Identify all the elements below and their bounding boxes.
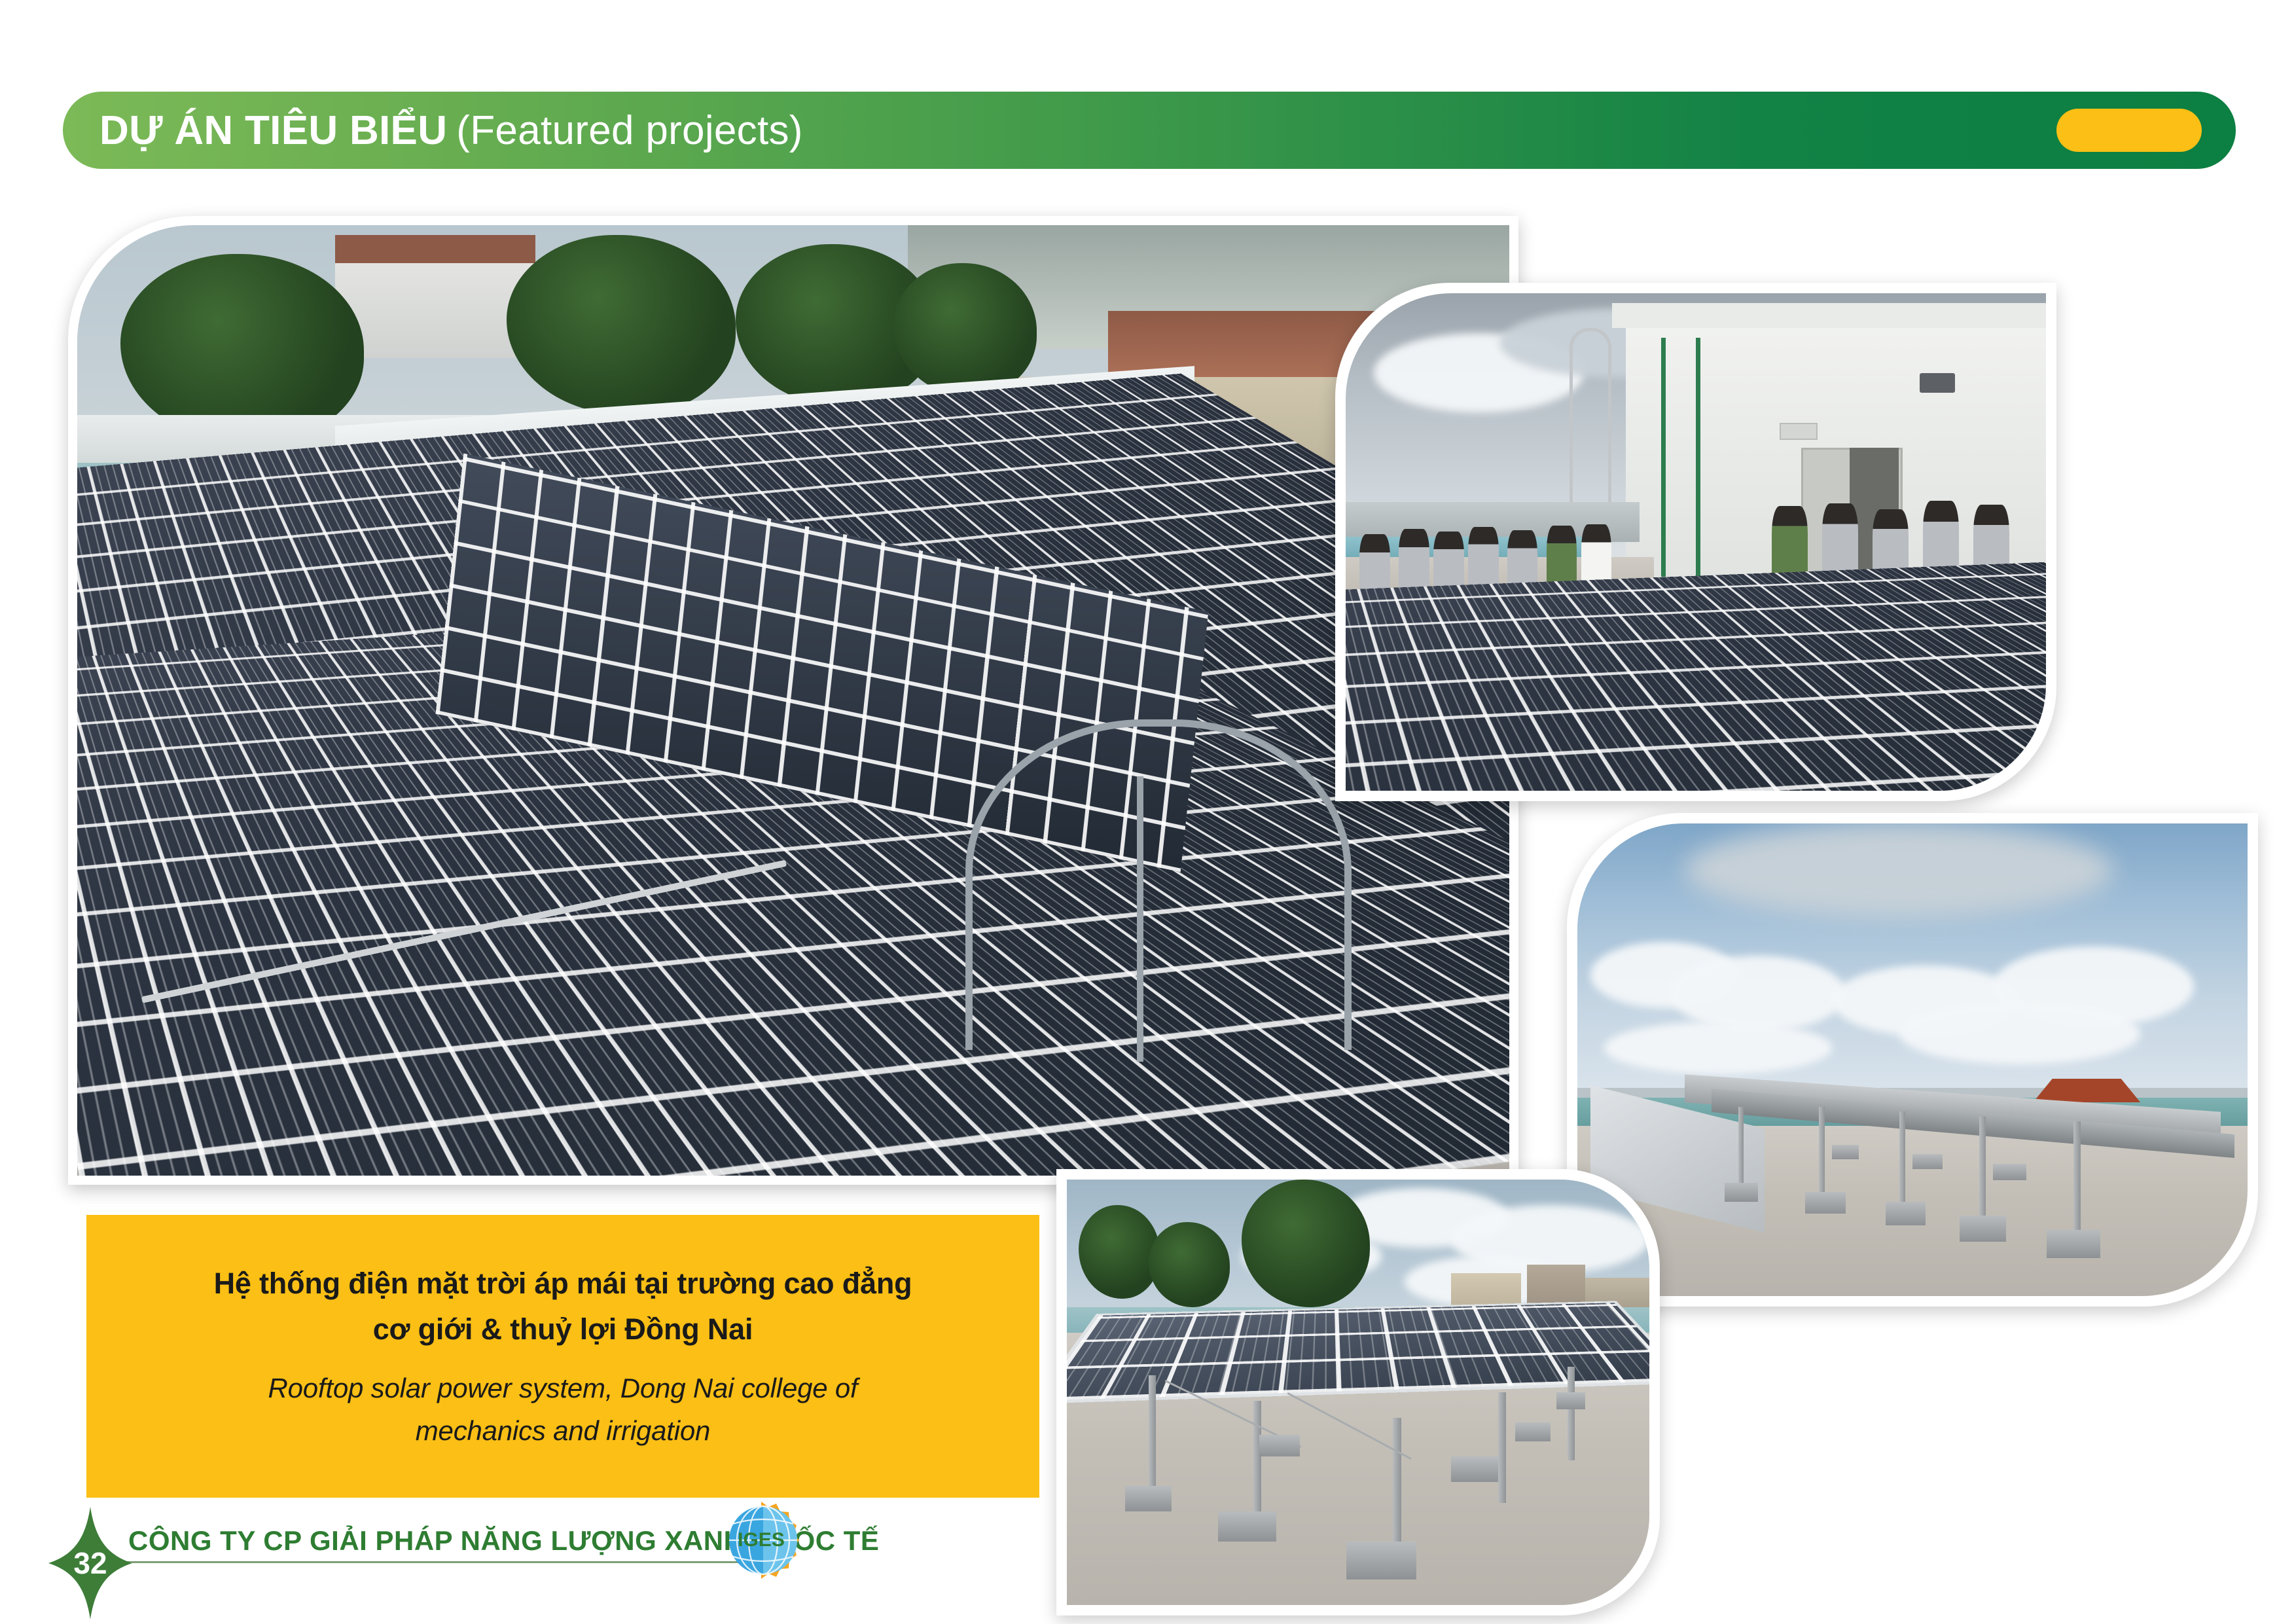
dark-cloud-band	[1685, 823, 2113, 918]
ballast-block	[1125, 1486, 1172, 1511]
support-leg	[1149, 1375, 1156, 1494]
support-post	[1899, 1111, 1905, 1211]
caption-english: Rooftop solar power system, Dong Nai col…	[268, 1367, 857, 1452]
support-post	[2073, 1121, 2081, 1240]
footer-divider-line	[119, 1561, 774, 1563]
ballast-block	[1556, 1392, 1586, 1409]
photo-students-on-rooftop	[1335, 283, 2056, 801]
photo-main-content	[77, 225, 1509, 1176]
page-number-text: 32	[48, 1507, 132, 1619]
photo-crew-content	[1346, 293, 2046, 791]
ballast-block	[2047, 1230, 2100, 1258]
caption-vietnamese: Hệ thống điện mặt trời áp mái tại trường…	[214, 1261, 912, 1352]
caption-vn-line1: Hệ thống điện mặt trời áp mái tại trường…	[214, 1261, 912, 1307]
iges-logo: IGES	[720, 1498, 802, 1580]
iges-logo-text: IGES	[738, 1529, 785, 1551]
ballast-block	[1960, 1216, 2007, 1242]
ballast-block	[1886, 1202, 1926, 1225]
support-leg	[1568, 1367, 1575, 1460]
ballast-block	[1912, 1154, 1943, 1169]
photo-rooftop-mounting-structure	[1567, 813, 2258, 1307]
caption-vn-line2: cơ giới & thuỷ lợi Đồng Nai	[214, 1307, 912, 1352]
photo-array-content	[1067, 1180, 1649, 1605]
cloud	[1604, 1022, 1832, 1074]
ballast-block	[1993, 1164, 2026, 1180]
ballast-block	[1259, 1435, 1300, 1456]
support-post	[1979, 1117, 1986, 1225]
caption-en-line2: mechanics and irrigation	[268, 1409, 857, 1452]
guardrail-post	[1137, 776, 1143, 1062]
background-tile-roof	[335, 235, 535, 264]
photo-rooftop-solar-array-aerial	[68, 216, 1518, 1185]
page-number-badge: 32	[48, 1507, 132, 1619]
rooftop-guardrail	[965, 719, 1352, 1050]
wall-vent	[1780, 423, 1818, 441]
ballast-block	[1515, 1422, 1550, 1441]
support-post	[1819, 1107, 1825, 1201]
page-title-english: (Featured projects)	[456, 107, 802, 154]
foreground-solar-panels	[1346, 559, 2046, 791]
support-leg	[1253, 1401, 1261, 1528]
ballast-block	[1451, 1456, 1498, 1482]
support-leg	[1498, 1392, 1506, 1503]
ballast-block	[1218, 1511, 1276, 1542]
support-leg	[1393, 1418, 1401, 1554]
ballast-block	[1725, 1183, 1758, 1202]
caption-en-line1: Rooftop solar power system, Dong Nai col…	[268, 1367, 857, 1409]
wall-lamp	[1920, 373, 1955, 393]
project-caption-box: Hệ thống điện mặt trời áp mái tại trường…	[86, 1215, 1039, 1498]
page-header-bar: DỰ ÁN TIÊU BIỂU (Featured projects)	[63, 92, 2236, 169]
page-title-vietnamese: DỰ ÁN TIÊU BIỂU	[99, 107, 447, 154]
photo-completed-solar-canopy	[1056, 1169, 1660, 1615]
photo-racking-content	[1577, 823, 2248, 1296]
iges-logo-icon: IGES	[720, 1498, 802, 1580]
support-post	[1738, 1107, 1744, 1192]
header-accent-pill	[2056, 109, 2202, 152]
building-roof-edge	[1612, 303, 2046, 328]
ballast-block	[1832, 1145, 1859, 1159]
ballast-block	[1805, 1192, 1845, 1213]
page-title: DỰ ÁN TIÊU BIỂU (Featured projects)	[99, 107, 803, 154]
ballast-block	[1346, 1542, 1416, 1580]
cloud	[1899, 1003, 2141, 1064]
cloud	[1671, 956, 1845, 1032]
